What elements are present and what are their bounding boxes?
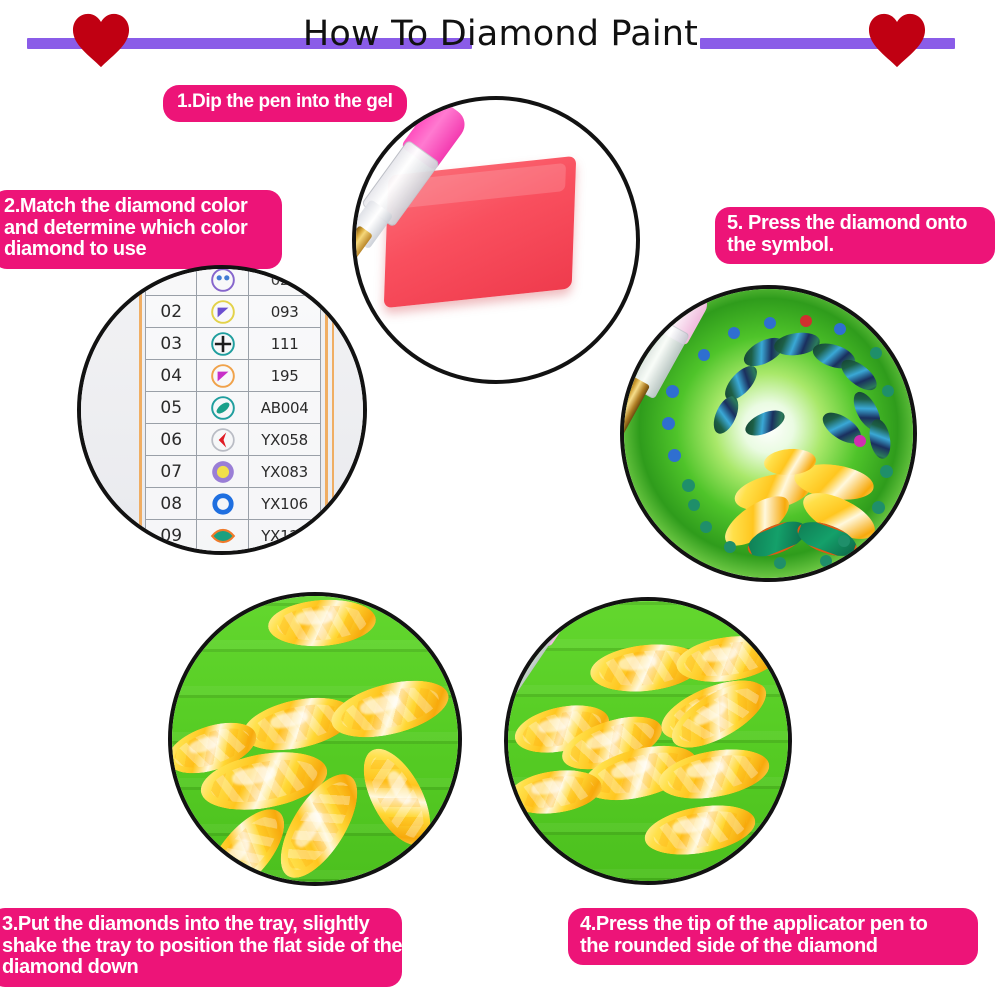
chart-row-symbol-icon xyxy=(197,265,249,296)
chart-row-symbol-icon xyxy=(197,424,249,456)
canvas-symbol-dot xyxy=(800,315,812,327)
table-row: 08YX106 xyxy=(146,488,321,520)
color-chart-photo: 02802093031110419505AB00406YX05807YX0830… xyxy=(77,265,367,555)
step-3-label: 3.Put the diamonds into the tray, slight… xyxy=(0,908,402,987)
canvas-symbol-dot xyxy=(682,479,695,492)
canvas-symbol-dot xyxy=(724,541,736,553)
canvas-symbol-dot xyxy=(764,317,776,329)
chart-row-number: 07 xyxy=(146,456,197,488)
chart-row-symbol-icon xyxy=(197,328,249,360)
table-row: 09YX125 xyxy=(146,520,321,552)
canvas-symbol-dot xyxy=(880,465,893,478)
table-row: 04195 xyxy=(146,360,321,392)
chart-row-symbol-icon xyxy=(197,360,249,392)
canvas-symbol-dot xyxy=(854,435,866,447)
step-2-label-line-2: and determine which color xyxy=(4,218,270,240)
table-row: 02093 xyxy=(146,296,321,328)
step-5-label-line-1: 5. Press the diamond onto xyxy=(727,213,983,235)
canvas-symbol-dot xyxy=(700,521,712,533)
pen-picking-diamond-photo xyxy=(504,597,792,885)
step-4-label-line-2: the rounded side of the diamond xyxy=(580,936,966,958)
chart-row-number xyxy=(146,265,197,296)
canvas-symbol-dot xyxy=(698,349,710,361)
canvas-symbol-dot xyxy=(666,385,679,398)
step-4-label-line-1: 4.Press the tip of the applicator pen to xyxy=(580,914,966,936)
canvas-symbol-dot xyxy=(662,417,675,430)
page-title: How To Diamond Paint xyxy=(0,14,1001,54)
canvas-symbol-dot xyxy=(834,323,846,335)
canvas-symbol-dot xyxy=(774,557,786,569)
chart-row-symbol-icon xyxy=(197,456,249,488)
step-4-label: 4.Press the tip of the applicator pen to… xyxy=(568,908,978,965)
diamond-color-legend-table: 02802093031110419505AB00406YX05807YX0830… xyxy=(145,265,321,552)
chart-row-number: 03 xyxy=(146,328,197,360)
chart-margin-line xyxy=(139,269,142,551)
diamonds-in-tray-photo xyxy=(168,592,462,886)
table-row: 07YX083 xyxy=(146,456,321,488)
step-2-label: 2.Match the diamond color and determine … xyxy=(0,190,282,269)
chart-row-number: 08 xyxy=(146,488,197,520)
chart-row-code: YX106 xyxy=(249,488,321,520)
chart-row-number: 05 xyxy=(146,392,197,424)
infographic-page: How To Diamond Paint 1.Dip the pen into … xyxy=(0,0,1001,1001)
canvas-symbol-dot xyxy=(870,347,882,359)
chart-row-number: 06 xyxy=(146,424,197,456)
chart-row-code: AB004 xyxy=(249,392,321,424)
step-3-label-line-2: shake the tray to position the flat side… xyxy=(2,936,390,958)
chart-row-number: 09 xyxy=(146,520,197,552)
step-5-label: 5. Press the diamond onto the symbol. xyxy=(715,207,995,264)
chart-row-symbol-icon xyxy=(197,392,249,424)
step-2-label-line-1: 2.Match the diamond color xyxy=(4,196,270,218)
chart-row-code: YX083 xyxy=(249,456,321,488)
canvas-symbol-dot xyxy=(838,535,850,547)
table-row: 03111 xyxy=(146,328,321,360)
step-3-label-line-3: diamond down xyxy=(2,957,390,979)
canvas-symbol-dot xyxy=(668,449,681,462)
chart-row-code: 028 xyxy=(249,265,321,296)
pen-dipping-into-gel-photo xyxy=(352,96,640,384)
chart-row-code: YX125 xyxy=(249,520,321,552)
chart-row-symbol-icon xyxy=(197,520,249,552)
chart-row-number: 02 xyxy=(146,296,197,328)
table-row: 06YX058 xyxy=(146,424,321,456)
chart-margin-line xyxy=(332,269,334,551)
step-3-label-line-1: 3.Put the diamonds into the tray, slight… xyxy=(2,914,390,936)
table-row: 028 xyxy=(146,265,321,296)
canvas-symbol-dot xyxy=(820,555,832,567)
canvas-symbol-dot xyxy=(728,327,740,339)
chart-row-symbol-icon xyxy=(197,296,249,328)
canvas-symbol-dot xyxy=(688,499,700,511)
canvas-symbol-dot xyxy=(882,385,894,397)
chart-row-number: 04 xyxy=(146,360,197,392)
table-row: 05AB004 xyxy=(146,392,321,424)
canvas-symbol-dot xyxy=(872,501,885,514)
step-5-label-line-2: the symbol. xyxy=(727,235,983,257)
chart-row-code: 093 xyxy=(249,296,321,328)
chart-row-code: 111 xyxy=(249,328,321,360)
chart-row-symbol-icon xyxy=(197,488,249,520)
chart-row-code: 195 xyxy=(249,360,321,392)
chart-margin-line xyxy=(325,269,328,551)
placing-diamond-on-canvas-photo xyxy=(620,285,917,582)
chart-row-code: YX058 xyxy=(249,424,321,456)
step-2-label-line-3: diamond to use xyxy=(4,239,270,261)
